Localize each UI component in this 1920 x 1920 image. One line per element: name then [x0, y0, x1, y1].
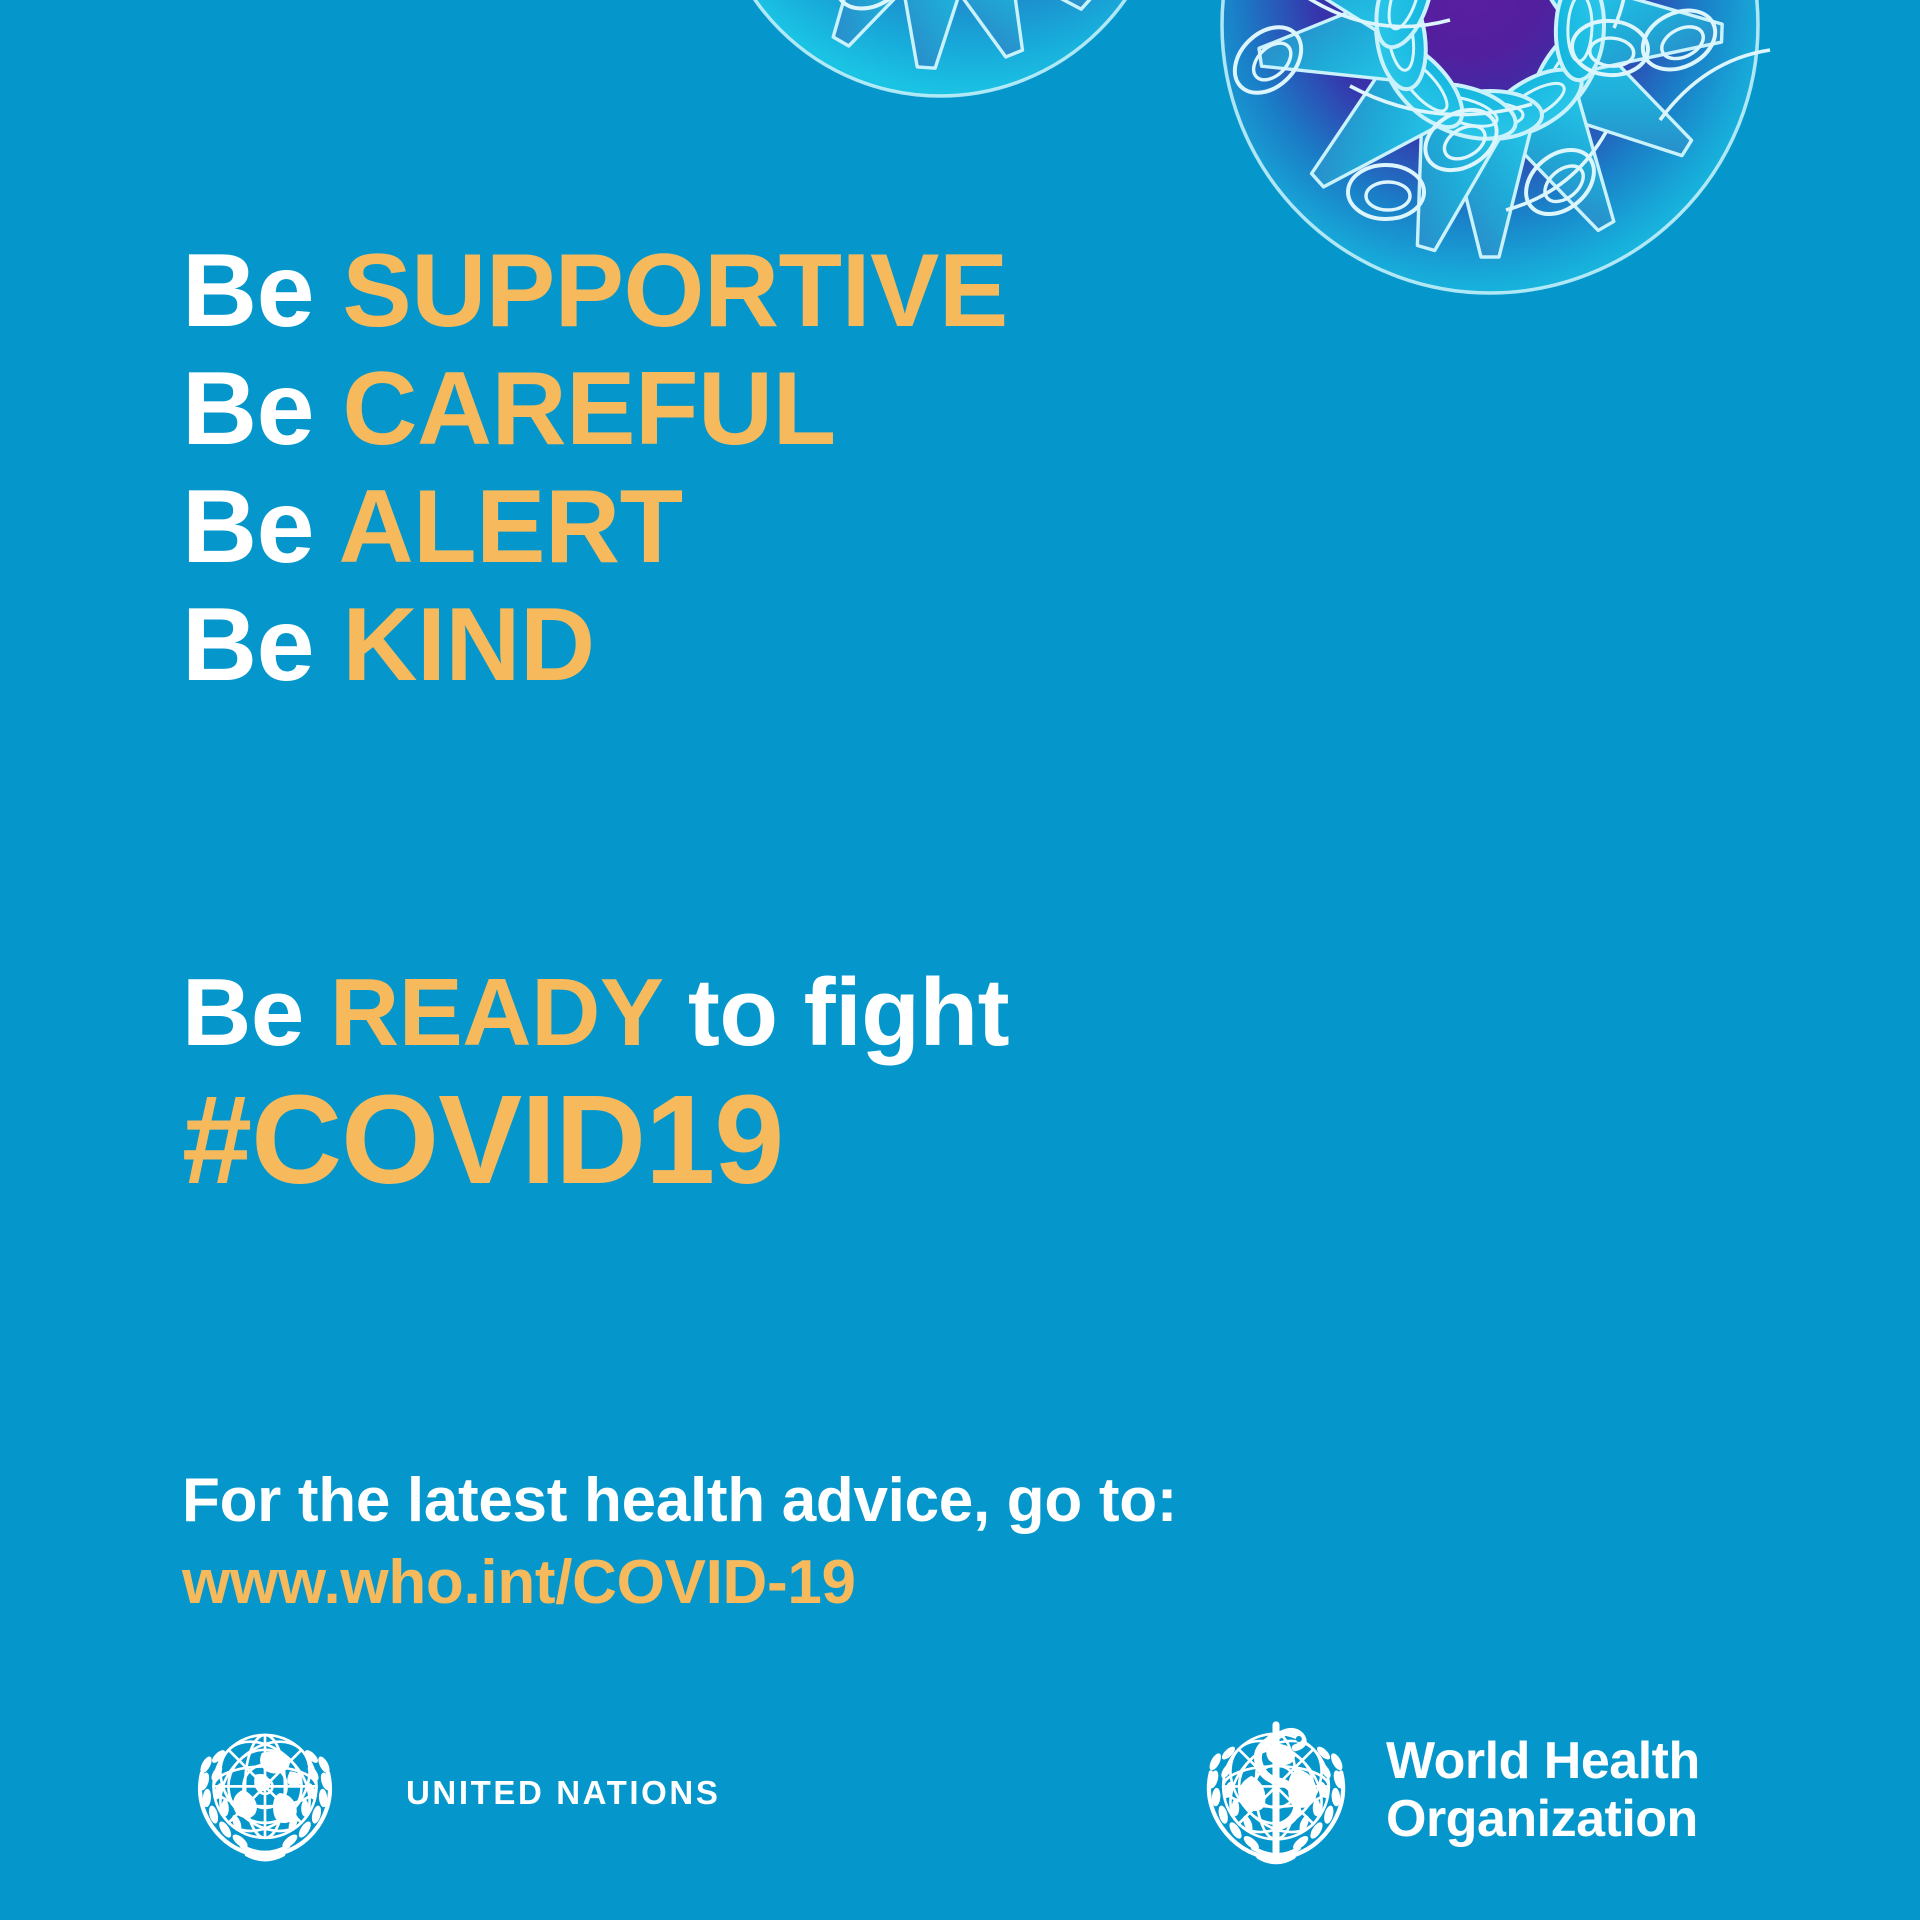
who-wordmark: World HealthOrganization	[1386, 1732, 1700, 1848]
headline-prefix-3: Be	[182, 469, 338, 585]
ready-block: Be READY to fight #COVID19	[182, 960, 1009, 1208]
headline-emphasis-1: SUPPORTIVE	[342, 233, 1007, 349]
advice-label: For the latest health advice, go to:	[182, 1460, 1177, 1542]
who-wordmark-line1: World Health	[1386, 1732, 1700, 1790]
advice-block: For the latest health advice, go to: www…	[182, 1460, 1177, 1624]
advice-url[interactable]: www.who.int/COVID-19	[182, 1542, 1177, 1624]
covid-hashtag: #COVID19	[182, 1072, 1009, 1208]
ready-line: Be READY to fight	[182, 960, 1009, 1066]
headline-line-1: Be SUPPORTIVE	[182, 232, 1008, 350]
poster-canvas: Be SUPPORTIVE Be CAREFUL Be ALERT Be KIN…	[0, 0, 1920, 1920]
headline-block: Be SUPPORTIVE Be CAREFUL Be ALERT Be KIN…	[182, 232, 1008, 704]
who-wordmark-line2: Organization	[1386, 1790, 1698, 1848]
united-nations-emblem	[182, 1710, 348, 1876]
headline-emphasis-2: CAREFUL	[342, 351, 835, 467]
ready-prefix: Be	[182, 959, 330, 1066]
headline-prefix-4: Be	[182, 587, 342, 703]
headline-emphasis-3: ALERT	[338, 469, 682, 585]
headline-line-2: Be CAREFUL	[182, 350, 1008, 468]
virus-secondary	[714, 0, 1166, 96]
ready-suffix: to fight	[662, 959, 1009, 1066]
united-nations-logo: UNITED NATIONS	[182, 1710, 720, 1876]
ready-emphasis: READY	[330, 959, 662, 1066]
headline-prefix-2: Be	[182, 351, 342, 467]
footer: UNITED NATIONS	[0, 1700, 1920, 1900]
world-health-organization-logo: World HealthOrganization	[1188, 1702, 1700, 1878]
virus-main	[1212, 0, 1771, 293]
headline-prefix-1: Be	[182, 233, 342, 349]
world-health-organization-emblem	[1188, 1702, 1364, 1878]
united-nations-wordmark: UNITED NATIONS	[406, 1774, 720, 1812]
headline-line-3: Be ALERT	[182, 468, 1008, 586]
headline-line-4: Be KIND	[182, 586, 1008, 704]
headline-emphasis-4: KIND	[342, 587, 594, 703]
